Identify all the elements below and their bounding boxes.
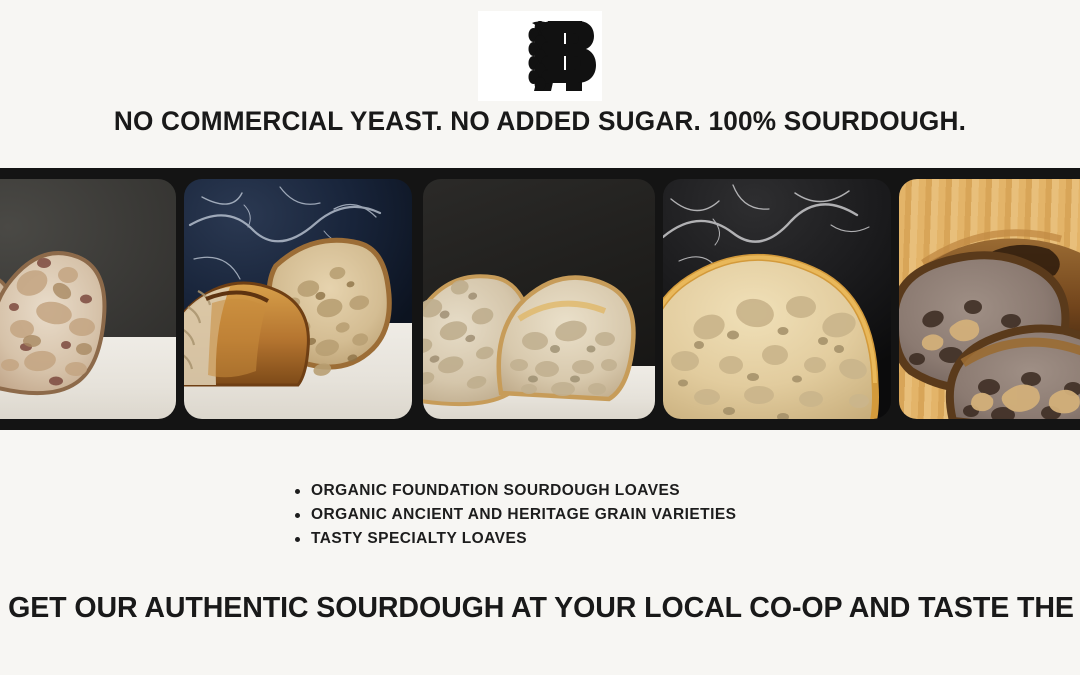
list-item: TASTY SPECIALTY LOAVES <box>295 527 736 551</box>
call-to-action-tagline: GET OUR AUTHENTIC SOURDOUGH AT YOUR LOCA… <box>8 592 1072 625</box>
feature-list: ORGANIC FOUNDATION SOURDOUGH LOAVES ORGA… <box>295 479 736 551</box>
photo-card-sourdough-crumb-closeup <box>663 179 891 419</box>
sourdough-promo-banner: NO COMMERCIAL YEAST. NO ADDED SUGAR. 100… <box>0 0 1080 675</box>
bread-illustration <box>899 179 1080 419</box>
photo-card-walnut-loaf-on-board <box>899 179 1080 419</box>
bakery-logo <box>478 11 602 101</box>
bread-illustration <box>423 179 655 419</box>
bread-illustration <box>663 179 891 419</box>
rb-wheat-logo-icon <box>484 19 596 93</box>
photo-card-cranberry-walnut-sourdough-slices <box>0 179 176 419</box>
page-title: NO COMMERCIAL YEAST. NO ADDED SUGAR. 100… <box>16 106 1064 137</box>
bread-illustration <box>0 179 176 419</box>
photo-card-whole-loaf-and-half-loaf <box>184 179 412 419</box>
photo-card-two-open-crumb-slices <box>423 179 655 419</box>
list-item: ORGANIC FOUNDATION SOURDOUGH LOAVES <box>295 479 736 503</box>
list-item: ORGANIC ANCIENT AND HERITAGE GRAIN VARIE… <box>295 503 736 527</box>
photo-strip <box>0 168 1080 430</box>
bread-illustration <box>184 179 412 419</box>
